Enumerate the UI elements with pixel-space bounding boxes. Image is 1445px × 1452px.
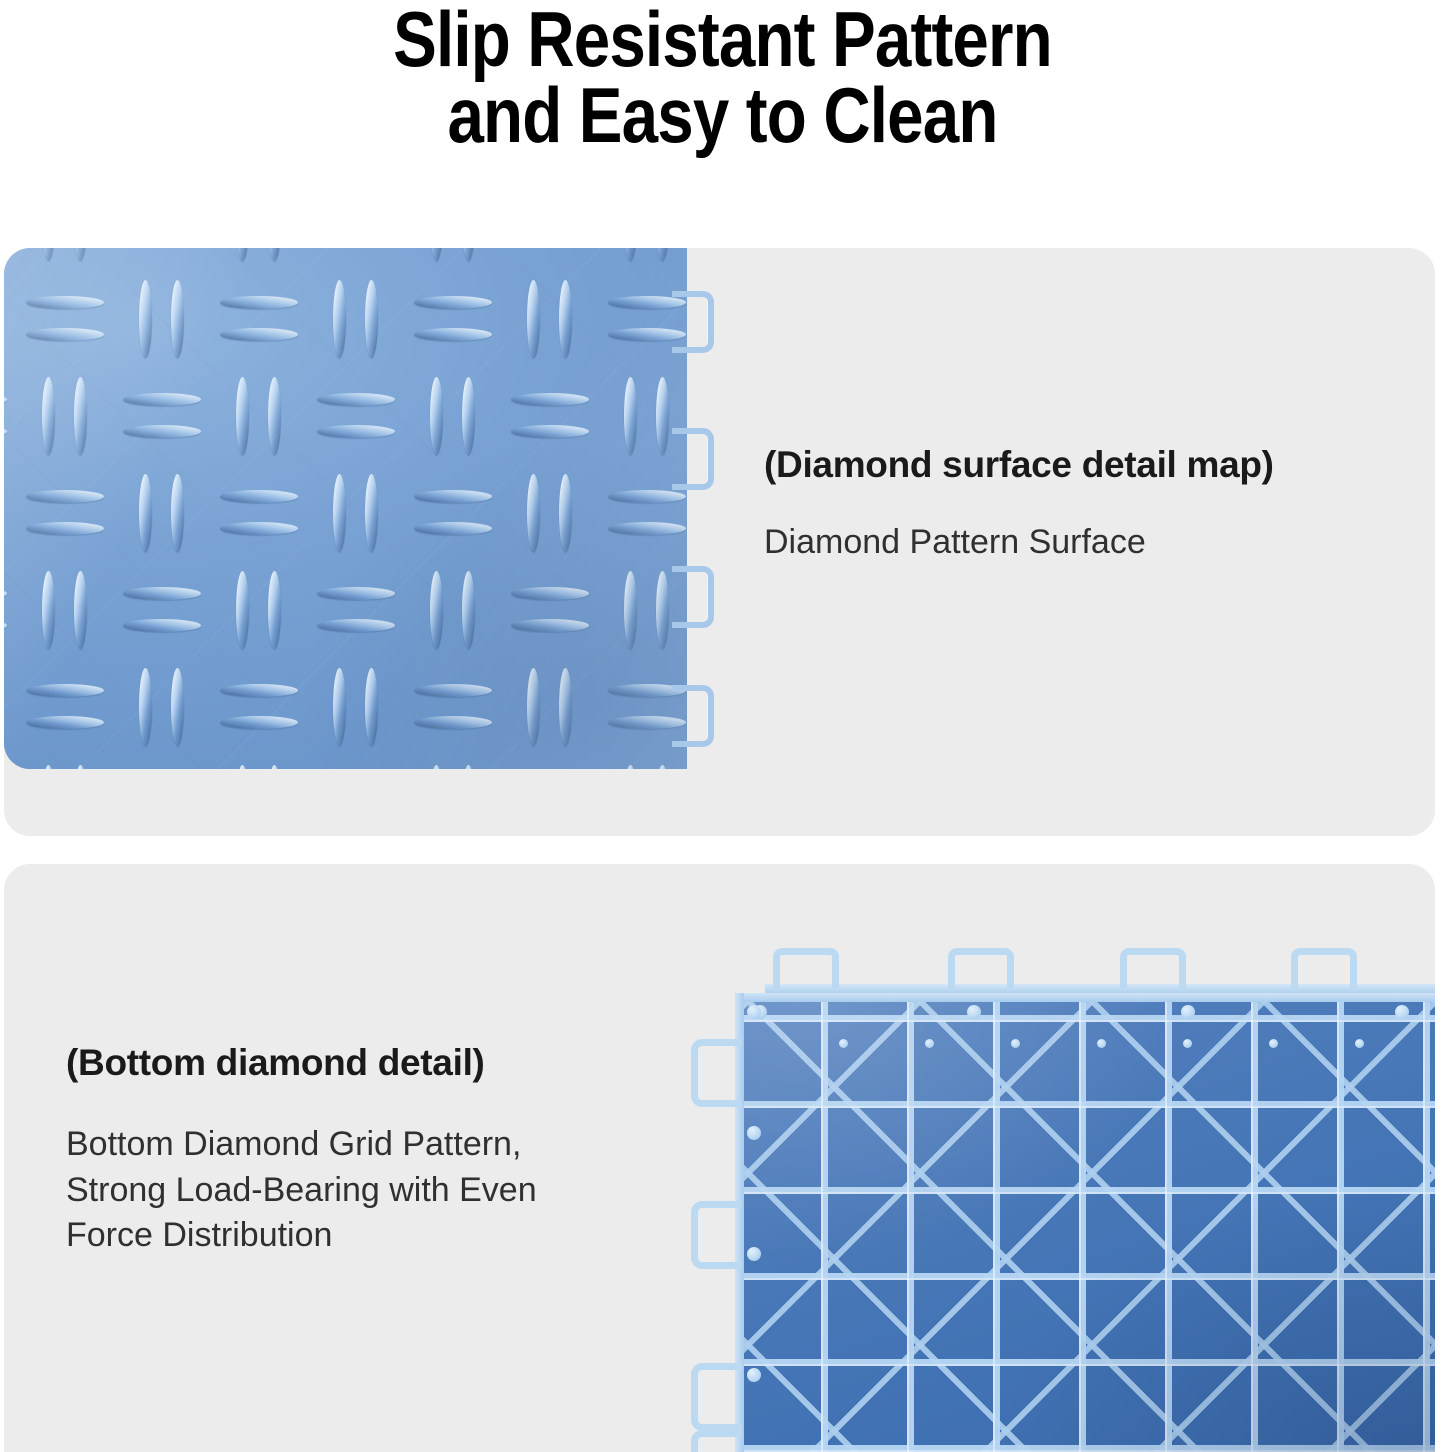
bottom-diamond-body: Bottom Diamond Grid Pattern, Strong Load… <box>66 1122 686 1259</box>
diamond-lens-vertical <box>139 668 152 746</box>
diamond-lens-horizontal <box>26 522 104 535</box>
grid-nub <box>1181 1005 1195 1019</box>
diamond-lens-horizontal <box>26 328 104 341</box>
grid-orthogonal-ribs <box>735 993 1435 1452</box>
grid-nub <box>747 1368 761 1382</box>
diamond-grid-tile-underside-image <box>735 993 1435 1452</box>
diamond-lens-vertical <box>527 668 540 746</box>
diamond-lens-horizontal <box>220 328 298 341</box>
diamond-lens-vertical <box>42 571 55 649</box>
grid-nub-small <box>1011 1039 1020 1048</box>
grid-diagonal-ribs <box>735 993 1435 1452</box>
diamond-lens-horizontal <box>26 296 104 309</box>
diamond-lens-vertical <box>139 474 152 552</box>
connector-tab-left-3 <box>691 1363 742 1431</box>
panel-diamond-surface: (Diamond surface detail map) Diamond Pat… <box>4 248 1435 836</box>
connector-tab-left-1 <box>691 1039 742 1107</box>
diamond-lens-vertical <box>656 377 669 455</box>
diamond-surface-heading: (Diamond surface detail map) <box>764 444 1424 486</box>
grid-nub-small <box>1269 1039 1278 1048</box>
diamond-lens-horizontal <box>414 522 492 535</box>
diamond-lens-vertical <box>333 280 346 358</box>
diamond-lens-vertical <box>527 474 540 552</box>
diamond-lens-vertical <box>171 280 184 358</box>
diamond-lens-horizontal <box>4 587 7 600</box>
grid-nub <box>967 1005 981 1019</box>
diamond-lens-horizontal <box>511 587 589 600</box>
bottom-diamond-heading: (Bottom diamond detail) <box>66 1042 686 1084</box>
diamond-lens-vertical <box>624 248 637 261</box>
connector-tab-right-3 <box>672 566 714 628</box>
diamond-lens-horizontal <box>220 716 298 729</box>
diamond-lens-horizontal <box>317 587 395 600</box>
diamond-lens-horizontal <box>317 425 395 438</box>
grid-rib-highlights <box>735 993 1435 1452</box>
diamond-lens-vertical <box>333 474 346 552</box>
grid-nub-small <box>1183 1039 1192 1048</box>
diamond-lens-horizontal <box>123 619 201 632</box>
diamond-lens-vertical <box>365 668 378 746</box>
diamond-lens-vertical <box>268 248 281 261</box>
diamond-lens-horizontal <box>511 425 589 438</box>
diamond-lens-horizontal <box>220 522 298 535</box>
diamond-lens-horizontal <box>317 619 395 632</box>
diamond-lens-vertical <box>268 765 281 770</box>
diamond-surface-body: Diamond Pattern Surface <box>764 520 1424 566</box>
diamond-lens-vertical <box>365 280 378 358</box>
diamond-lens-vertical <box>559 280 572 358</box>
diamond-lens-vertical <box>236 248 249 261</box>
diamond-lens-vertical <box>236 765 249 770</box>
diamond-lens-vertical <box>430 377 443 455</box>
diamond-lens-vertical <box>74 765 87 770</box>
diamond-lens-horizontal <box>26 716 104 729</box>
diamond-lens-horizontal <box>26 490 104 503</box>
diamond-lens-horizontal <box>123 393 201 406</box>
diamond-lens-vertical <box>656 248 669 261</box>
diamond-lens-vertical <box>624 765 637 770</box>
grid-nub <box>747 1126 761 1140</box>
grid-frame-top-edge <box>735 993 1435 1002</box>
diamond-lens-vertical <box>171 668 184 746</box>
panel-bottom-diamond: (Bottom diamond detail) Bottom Diamond G… <box>4 864 1435 1452</box>
diamond-lens-vertical <box>236 571 249 649</box>
diamond-lens-horizontal <box>4 393 7 406</box>
diamond-lens-vertical <box>430 571 443 649</box>
diamond-lens-horizontal <box>414 684 492 697</box>
diamond-lens-vertical <box>42 765 55 770</box>
diamond-lens-horizontal <box>4 619 7 632</box>
diamond-lens-vertical <box>268 571 281 649</box>
diamond-lens-vertical <box>656 571 669 649</box>
page-title: Slip Resistant Pattern and Easy to Clean <box>116 2 1330 153</box>
diamond-lens-horizontal <box>123 587 201 600</box>
connector-tab-group-right <box>672 248 712 769</box>
grid-nub-small <box>839 1039 848 1048</box>
grid-shading-overlay <box>735 993 1435 1452</box>
diamond-lens-horizontal <box>220 684 298 697</box>
connector-tab-top-4 <box>1291 948 1357 991</box>
diamond-lens-vertical <box>365 474 378 552</box>
diamond-lens-vertical <box>268 377 281 455</box>
diamond-lens-vertical <box>74 377 87 455</box>
diamond-lens-horizontal <box>123 425 201 438</box>
connector-tab-right-2 <box>672 428 714 490</box>
grid-nub <box>747 1005 761 1019</box>
bottom-diamond-text-block: (Bottom diamond detail) Bottom Diamond G… <box>66 1042 686 1259</box>
grid-nub-small <box>1097 1039 1106 1048</box>
diamond-lens-vertical <box>74 571 87 649</box>
diamond-lens-horizontal <box>26 684 104 697</box>
connector-tab-top-1 <box>773 948 839 991</box>
diamond-lens-vertical <box>624 571 637 649</box>
diamond-lens-horizontal <box>220 490 298 503</box>
diamond-lens-horizontal <box>511 393 589 406</box>
connector-tab-left-4 <box>691 1430 742 1452</box>
diamond-lens-vertical <box>333 668 346 746</box>
diamond-lens-pattern <box>4 248 687 769</box>
diamond-lens-vertical <box>656 765 669 770</box>
diamond-lens-horizontal <box>220 296 298 309</box>
diamond-lens-horizontal <box>317 393 395 406</box>
diamond-lens-horizontal <box>511 619 589 632</box>
grid-nub-small <box>1355 1039 1364 1048</box>
diamond-lens-horizontal <box>414 490 492 503</box>
connector-tab-right-4 <box>672 685 714 747</box>
diamond-lens-vertical <box>462 571 475 649</box>
grid-tile-body <box>735 993 1435 1452</box>
diamond-lens-vertical <box>559 668 572 746</box>
grid-nub <box>747 1247 761 1261</box>
diamond-lens-horizontal <box>414 296 492 309</box>
diamond-lens-vertical <box>527 280 540 358</box>
diamond-lens-vertical <box>462 248 475 261</box>
diamond-lens-vertical <box>42 248 55 261</box>
diamond-lens-vertical <box>430 765 443 770</box>
diamond-lens-vertical <box>462 765 475 770</box>
diamond-lens-vertical <box>171 474 184 552</box>
diamond-lens-vertical <box>559 474 572 552</box>
diamond-lens-vertical <box>430 248 443 261</box>
connector-tab-top-2 <box>948 948 1014 991</box>
diamond-lens-vertical <box>462 377 475 455</box>
connector-tab-left-2 <box>691 1201 742 1269</box>
diamond-plate-tile-surface-image <box>4 248 687 769</box>
diamond-lens-vertical <box>42 377 55 455</box>
grid-nub <box>1395 1005 1409 1019</box>
diamond-lens-vertical <box>624 377 637 455</box>
connector-tab-right-1 <box>672 291 714 353</box>
diamond-lens-horizontal <box>4 425 7 438</box>
diamond-lens-vertical <box>236 377 249 455</box>
diamond-lens-vertical <box>139 280 152 358</box>
diamond-lens-vertical <box>74 248 87 261</box>
connector-tab-top-3 <box>1120 948 1186 991</box>
diamond-lens-horizontal <box>414 328 492 341</box>
diamond-lens-horizontal <box>414 716 492 729</box>
diamond-surface-text-block: (Diamond surface detail map) Diamond Pat… <box>764 444 1424 566</box>
grid-nub-small <box>925 1039 934 1048</box>
